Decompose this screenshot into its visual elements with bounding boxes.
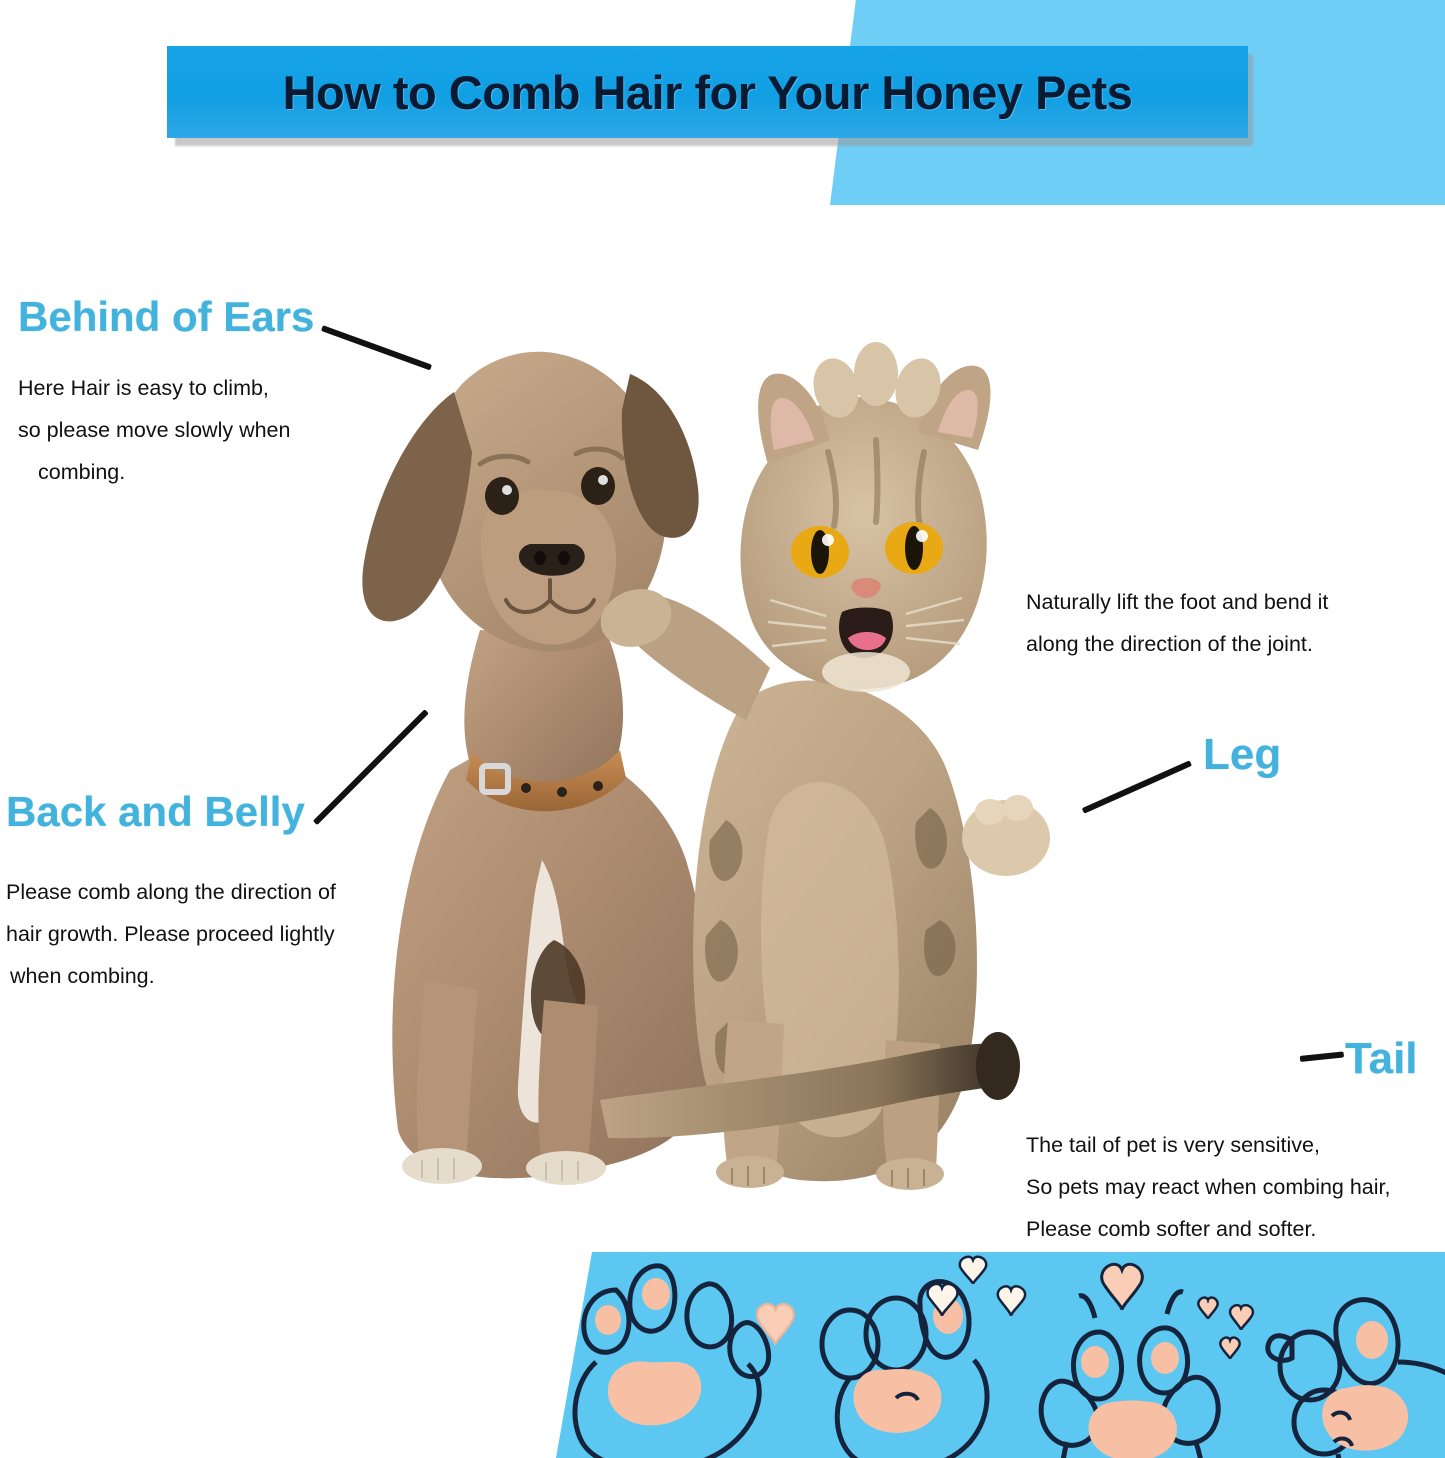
- dog-figure: [362, 352, 712, 1185]
- pets-photo: [330, 300, 1070, 1190]
- paw-print-pattern: [0, 1252, 1445, 1458]
- callout-text-behind-of-ears: Here Hair is easy to climb, so please mo…: [18, 368, 290, 494]
- callout-label-back-and-belly: Back and Belly: [6, 788, 305, 836]
- header-banner: How to Comb Hair for Your Honey Pets: [0, 0, 1445, 215]
- pets-illustration: [330, 300, 1070, 1190]
- callout-line: so please move slowly when: [18, 410, 290, 452]
- callout-line: Naturally lift the foot and bend it: [1026, 582, 1328, 624]
- callout-text-tail: The tail of pet is very sensitive, So pe…: [1026, 1125, 1391, 1251]
- callout-line: The tail of pet is very sensitive,: [1026, 1125, 1391, 1167]
- callout-line: along the direction of the joint.: [1026, 624, 1328, 666]
- header-title-bar: How to Comb Hair for Your Honey Pets: [167, 46, 1248, 138]
- callout-text-back-and-belly: Please comb along the direction of hair …: [6, 872, 336, 998]
- callout-label-behind-of-ears: Behind of Ears: [18, 293, 314, 341]
- callout-line: hair growth. Please proceed lightly: [6, 914, 336, 956]
- callout-line: Please comb along the direction of: [6, 872, 336, 914]
- callout-line: So pets may react when combing hair,: [1026, 1167, 1391, 1209]
- callout-line: Here Hair is easy to climb,: [18, 368, 290, 410]
- callout-label-tail: Tail: [1345, 1034, 1418, 1084]
- cat-front-paw: [962, 795, 1050, 876]
- callout-label-leg: Leg: [1203, 730, 1281, 780]
- page-title: How to Comb Hair for Your Honey Pets: [283, 65, 1133, 120]
- callout-line: when combing.: [6, 956, 336, 998]
- callout-text-leg: Naturally lift the foot and bend it alon…: [1026, 582, 1328, 666]
- leader-line-leg: [1082, 760, 1192, 813]
- leader-line-tail: [1300, 1051, 1344, 1062]
- callout-line: Please comb softer and softer.: [1026, 1209, 1391, 1251]
- bottom-decoration-strip: [0, 1252, 1445, 1458]
- callout-line: combing.: [18, 452, 290, 494]
